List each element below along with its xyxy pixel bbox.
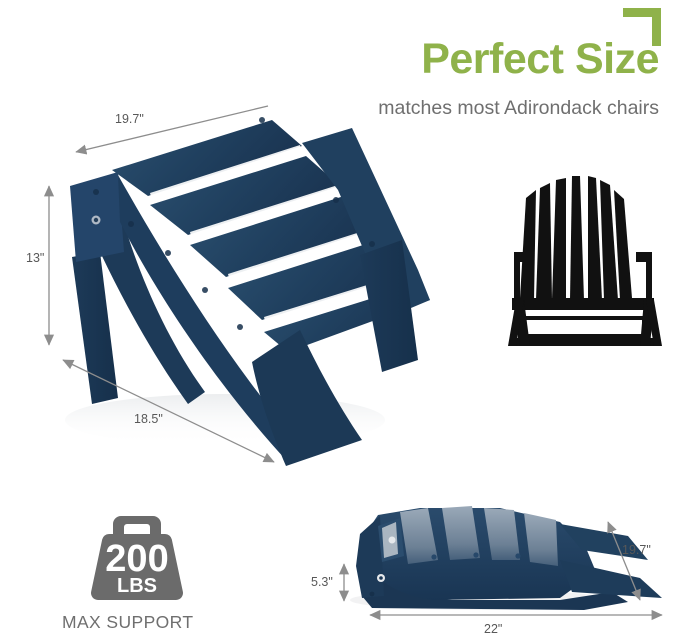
- headline-subtitle: matches most Adirondack chairs: [378, 99, 659, 119]
- headline-title: Perfect Size: [421, 38, 659, 81]
- dimension-label-width-top: 19.7": [115, 112, 144, 126]
- dimension-label-folded-diagonal: 19.7": [622, 543, 651, 557]
- dimension-arrow-folded-diagonal: [608, 522, 640, 600]
- dimension-arrow-width-top: [76, 106, 268, 152]
- weight-unit: LBS: [117, 575, 157, 597]
- dimension-label-depth: 18.5": [134, 412, 163, 426]
- weight-value: 200: [105, 538, 168, 580]
- product-infographic: Perfect Size matches most Adirondack cha…: [0, 0, 679, 641]
- dimension-label-folded-thickness: 5.3": [311, 575, 333, 589]
- dimension-arrow-depth: [63, 360, 274, 462]
- weight-caption: MAX SUPPORT: [62, 612, 193, 633]
- dimension-label-height: 13": [26, 251, 44, 265]
- dimension-label-folded-length: 22": [484, 622, 502, 636]
- weight-icon: 200 LBS: [83, 512, 191, 604]
